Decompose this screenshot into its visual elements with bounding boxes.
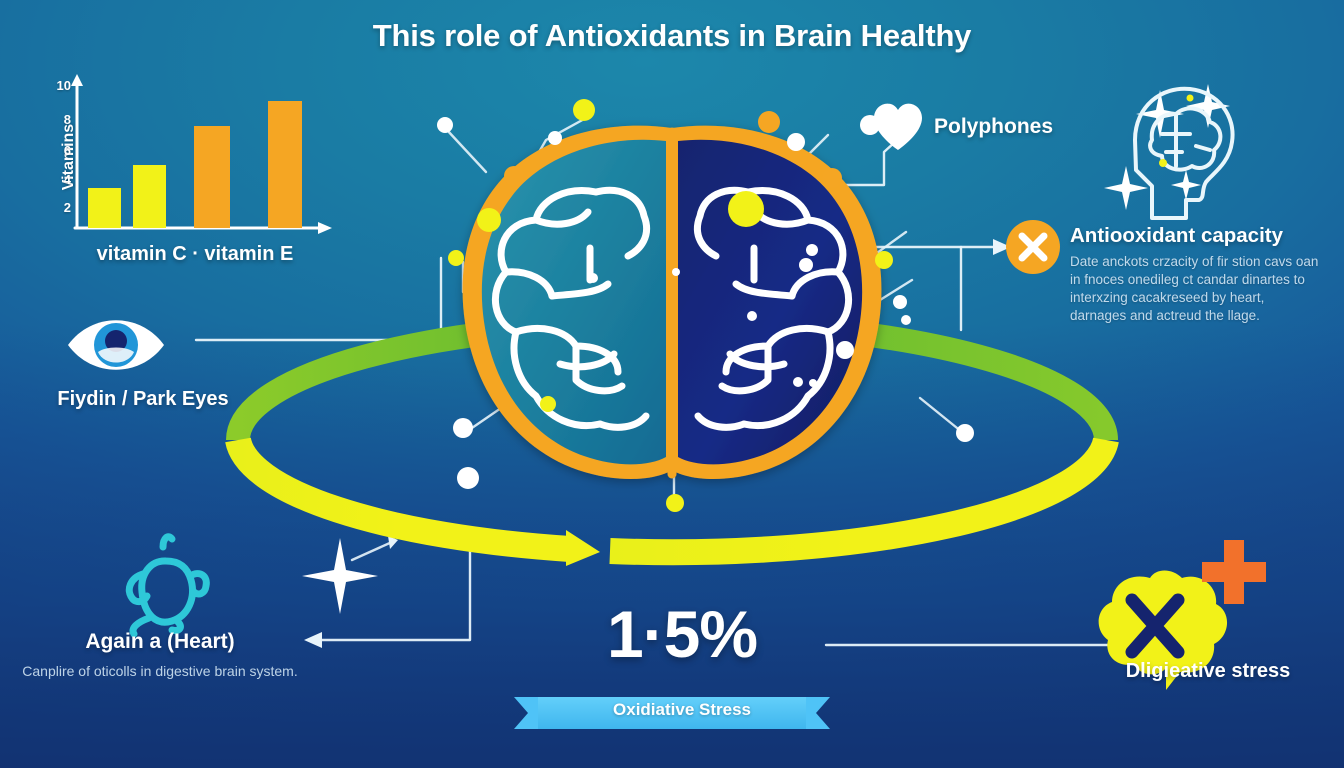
connector-stem-n	[352, 542, 392, 560]
connector-stem-l	[920, 398, 962, 432]
bar-vitamin-e-1	[194, 126, 230, 228]
x-circle-icon[interactable]	[1006, 220, 1060, 274]
callout-digestive-stress: Dligieative stress	[1108, 660, 1308, 684]
node-orange	[758, 111, 780, 133]
chart-x-axis-label: vitamin C · vitamin E	[60, 243, 330, 266]
callout-eyes-label: Fiydin / Park Eyes	[18, 388, 268, 411]
heart-icon	[874, 104, 922, 150]
node-yellow	[477, 208, 501, 232]
node-white	[956, 424, 974, 442]
infographic-poster: This role of Antioxidants in Brain Healt…	[0, 0, 1344, 768]
bar-vitamin-c-2	[133, 165, 166, 228]
node-yellow	[728, 191, 764, 227]
node-orange	[504, 166, 524, 186]
node-white	[901, 315, 911, 325]
ring-arrowhead	[566, 530, 600, 566]
brain-inner-dot	[793, 377, 803, 387]
node-white	[437, 117, 453, 133]
statistic-value: 1·5%	[522, 596, 842, 672]
brain-hemispheres	[463, 126, 882, 479]
statistic-ribbon-label: Oxidiative Stress	[522, 700, 842, 720]
node-yellow	[540, 396, 556, 412]
brain-inner-dot	[809, 379, 817, 387]
vitamins-bar-chart	[71, 74, 332, 234]
callout-capacity-title: Antiooxidant capacity	[1070, 224, 1320, 248]
node-white	[806, 244, 818, 256]
eye-icon	[68, 320, 164, 370]
chart-ytick-2: 2	[55, 200, 71, 215]
page-title: This role of Antioxidants in Brain Healt…	[0, 18, 1344, 54]
callout-stress-label: Dligieative stress	[1108, 660, 1308, 684]
sparkle-icon	[1171, 170, 1201, 200]
chart-ytick-10: 10	[55, 78, 71, 93]
node-white	[893, 295, 907, 309]
bar-vitamin-c-1	[88, 188, 121, 228]
node-white	[799, 258, 813, 272]
chart-ytick-6: 6	[55, 143, 71, 158]
sparkle-icon	[302, 538, 378, 614]
heart-organ-icon	[129, 537, 206, 634]
node-orange	[822, 168, 842, 188]
arrowhead-heart	[304, 632, 322, 648]
callout-heart: Again a (Heart) Canplire of oticolls in …	[20, 630, 300, 681]
node-yellow	[875, 251, 893, 269]
node-yellow	[666, 494, 684, 512]
node-white	[457, 467, 479, 489]
node-yellow	[573, 99, 595, 121]
chart-x-axis-arrow	[318, 222, 332, 234]
bar-vitamin-e-2	[268, 101, 302, 228]
callout-polyphones-label: Polyphones	[934, 115, 1053, 139]
chart-ytick-4: 4	[55, 172, 71, 187]
brain-inner-dot	[672, 268, 680, 276]
connector-stem-a	[447, 130, 486, 172]
connector-eyes	[196, 258, 441, 340]
chart-ytick-8: 8	[55, 112, 71, 127]
node-white	[787, 133, 805, 151]
callout-heart-body: Canplire of oticolls in digestive brain …	[20, 662, 300, 681]
node-white	[453, 418, 473, 438]
callout-capacity-body: Date anckots crzacity of fir stion cavs …	[1070, 253, 1320, 325]
callout-heart-title: Again a (Heart)	[20, 630, 300, 654]
node-white	[548, 131, 562, 145]
brain-inner-dot	[747, 311, 757, 321]
node-white	[836, 341, 854, 359]
callout-antioxidant-capacity: Antiooxidant capacity Date anckots crzac…	[1070, 224, 1320, 325]
brain-inner-dot	[588, 273, 598, 283]
node-yellow	[448, 250, 464, 266]
